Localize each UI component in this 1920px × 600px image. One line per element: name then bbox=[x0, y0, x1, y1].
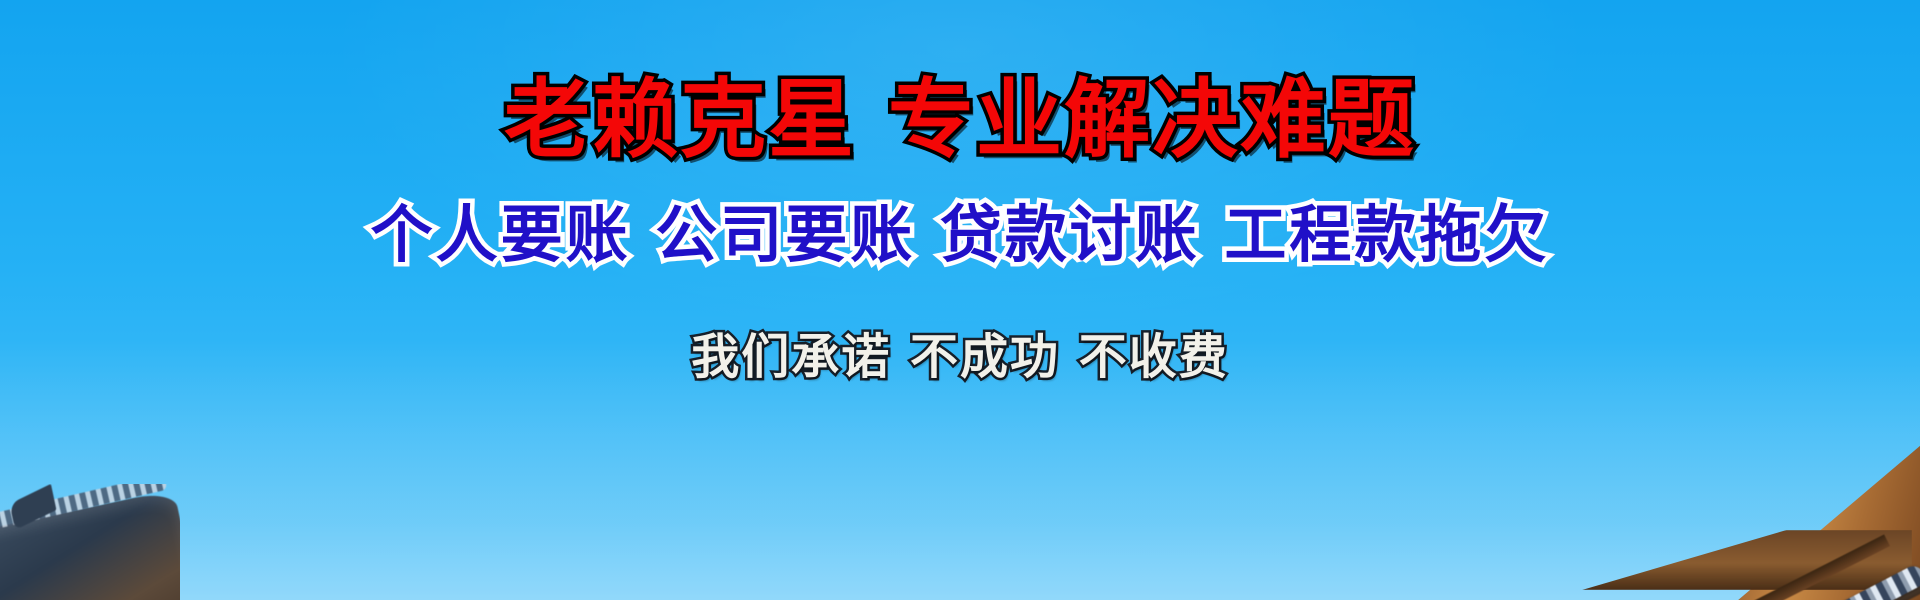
banner-headline: 老赖克星 专业解决难题 bbox=[504, 74, 1416, 167]
banner-text-content: 老赖克星 专业解决难题 个人要账 公司要账 贷款讨账 工程款拖欠 我们承诺 不成… bbox=[0, 0, 1920, 600]
debt-collection-banner: 老赖克星 专业解决难题 个人要账 公司要账 贷款讨账 工程款拖欠 我们承诺 不成… bbox=[0, 0, 1920, 600]
banner-promise-text: 我们承诺 不成功 不收费 bbox=[691, 317, 1228, 387]
banner-services-line: 个人要账 公司要账 贷款讨账 工程款拖欠 bbox=[371, 201, 1550, 269]
